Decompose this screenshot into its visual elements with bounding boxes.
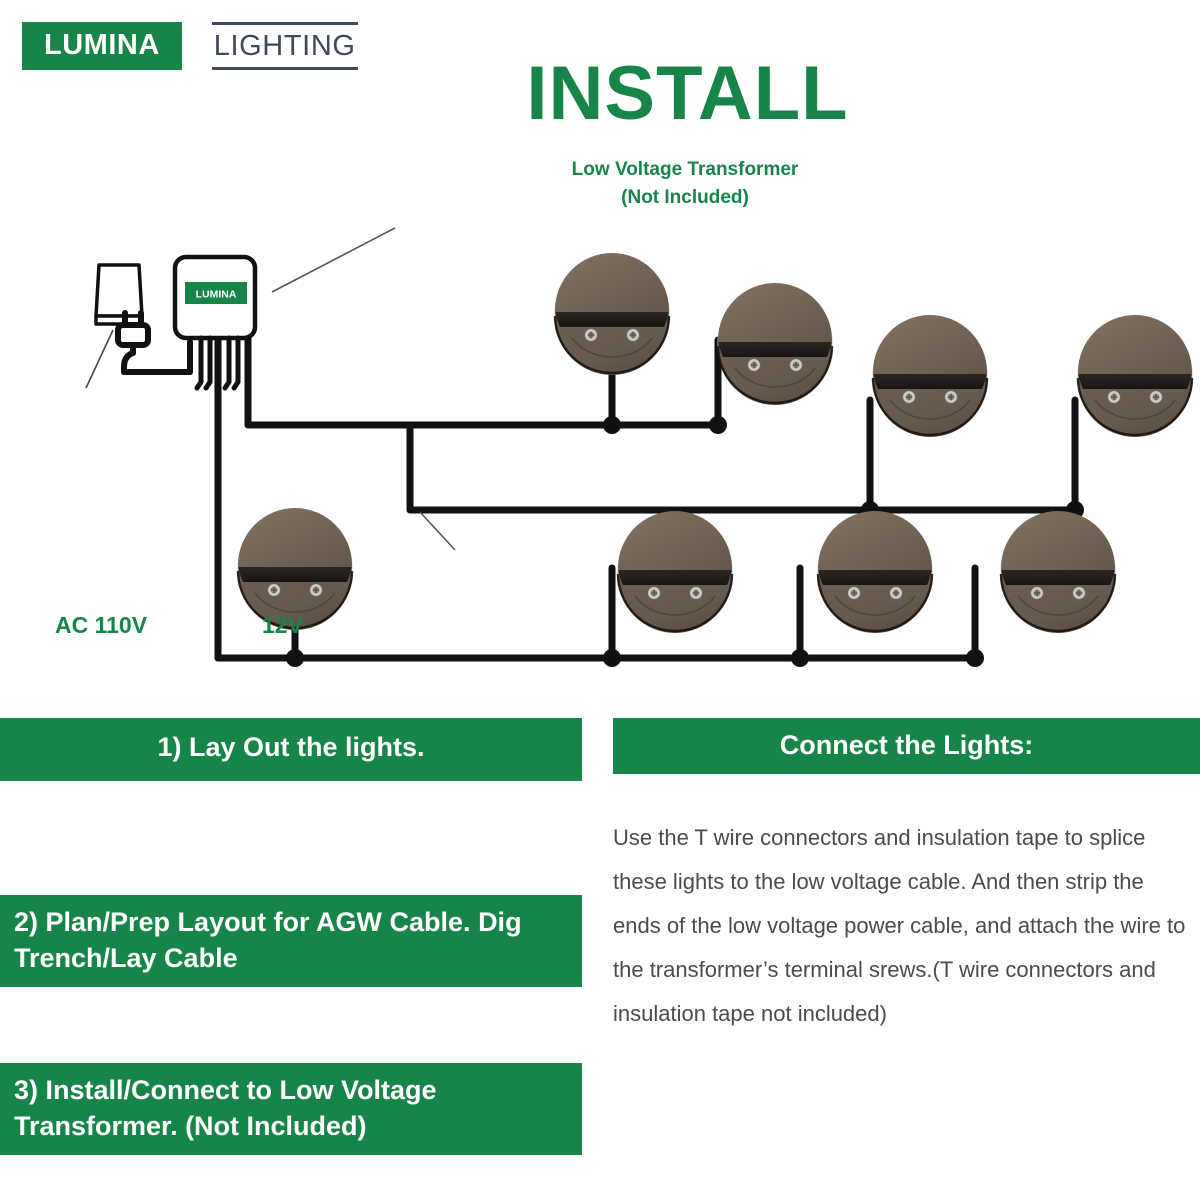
subtitle-line-2: (Not Included): [170, 184, 1200, 212]
connect-column: Connect the Lights: Use the T wire conne…: [613, 718, 1200, 1036]
install-guide-page: LUMINA LIGHTING INSTALL Low Voltage Tran…: [0, 0, 1200, 1200]
cable-leader-line: [420, 512, 455, 550]
fixture-lower-2: [617, 511, 733, 633]
wall-outlet-icon: [96, 265, 142, 324]
step-2-banner: 2) Plan/Prep Layout for AGW Cable. Dig T…: [0, 895, 582, 987]
fixture-lower-4: [1000, 511, 1116, 633]
page-subtitle: Low Voltage Transformer (Not Included): [0, 156, 1200, 211]
connect-body-text: Use the T wire connectors and insulation…: [613, 816, 1193, 1036]
transformer-box: LUMINA: [175, 228, 395, 338]
label-ac-110v: AC 110V: [55, 612, 147, 639]
fixture-lower-3: [817, 511, 933, 633]
fixture-upper-4: [1077, 315, 1193, 437]
fixture-upper-2: [717, 283, 833, 405]
step-3-banner: 3) Install/Connect to Low Voltage Transf…: [0, 1063, 582, 1155]
step-1-banner: 1) Lay Out the lights.: [0, 718, 582, 781]
transformer-badge-label: LUMINA: [196, 289, 237, 301]
ac-leader-line: [86, 330, 113, 388]
page-title: INSTALL: [0, 56, 1200, 132]
page-title-text: INSTALL: [526, 51, 848, 136]
label-12v: 12V: [262, 612, 303, 639]
subtitle-line-1: Low Voltage Transformer: [170, 156, 1200, 184]
fixture-upper-3: [872, 315, 988, 437]
wiring-diagram: LUMINA AC 110V 12V Low Voltage Cable: [0, 220, 1200, 690]
fixture-upper-1: [554, 253, 670, 375]
transformer-leader-line: [272, 228, 395, 292]
connect-body: Use the T wire connectors and insulation…: [613, 816, 1193, 1036]
connect-heading: Connect the Lights:: [613, 718, 1200, 774]
